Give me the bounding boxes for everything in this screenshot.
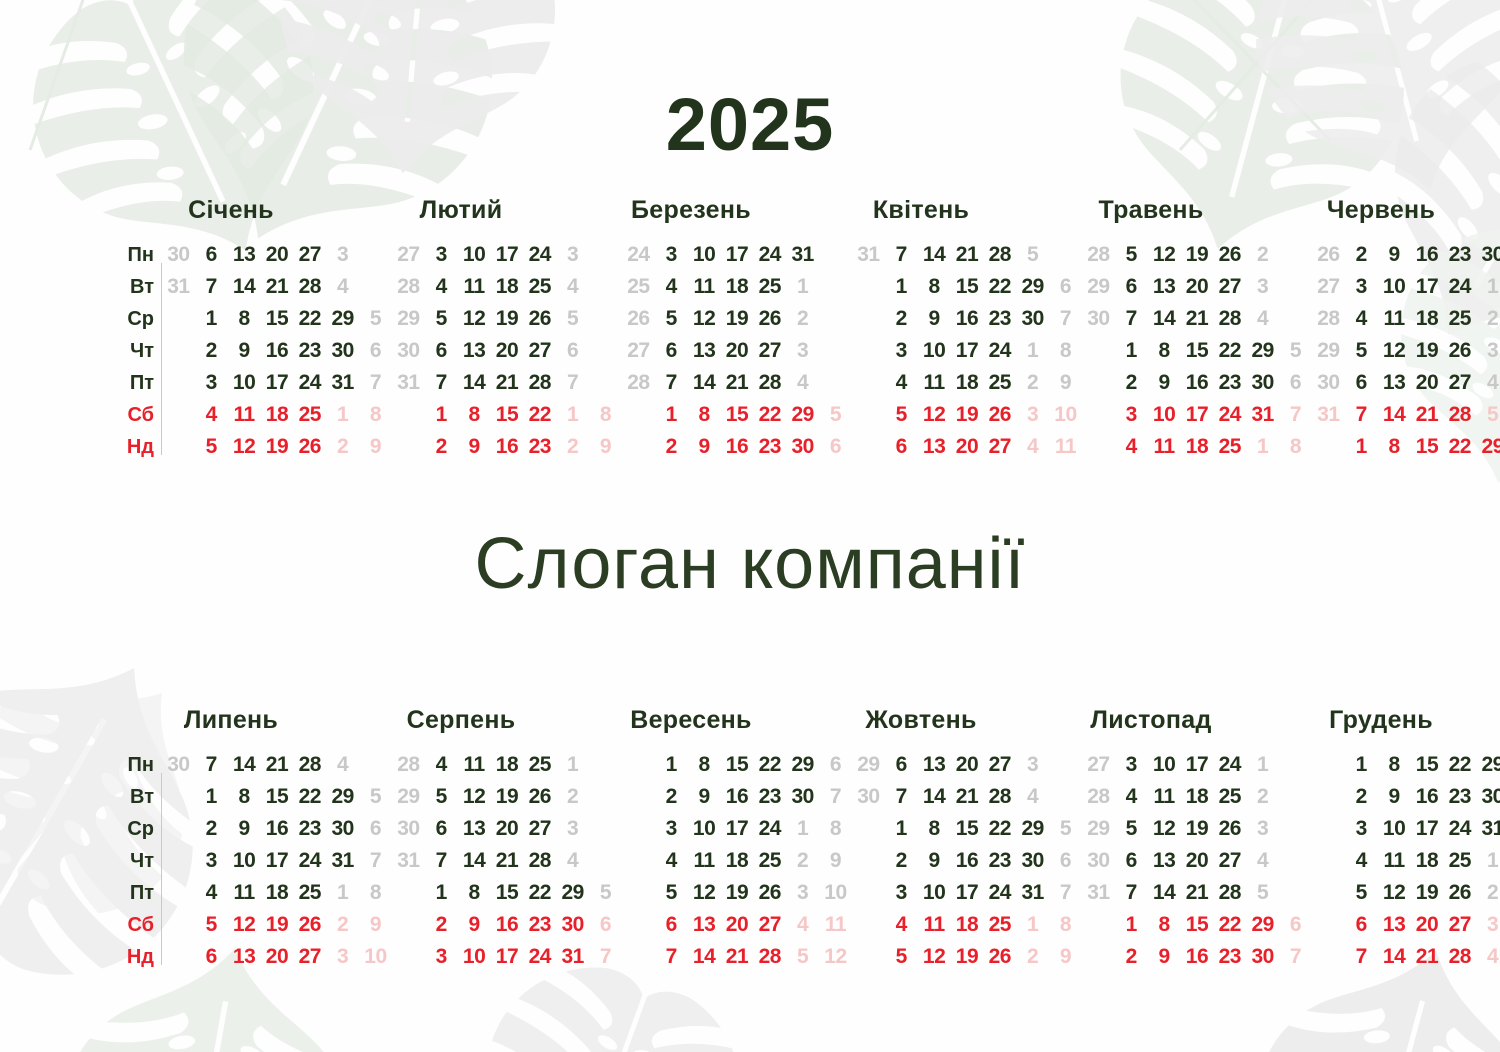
day-cell[interactable]: 30 (1476, 239, 1500, 271)
day-cell[interactable]: 1 (425, 399, 458, 431)
day-cell[interactable]: 14 (1148, 877, 1181, 909)
day-cell[interactable]: 1 (1246, 431, 1279, 463)
day-cell[interactable]: 29 (392, 781, 425, 813)
day-cell[interactable]: 2 (1345, 781, 1378, 813)
day-cell[interactable]: 17 (261, 845, 294, 877)
day-cell[interactable]: 14 (1378, 399, 1411, 431)
day-cell[interactable]: 21 (1181, 877, 1214, 909)
day-cell[interactable]: 23 (753, 431, 786, 463)
day-cell[interactable]: 13 (1148, 845, 1181, 877)
day-cell[interactable]: 10 (1148, 399, 1181, 431)
day-cell[interactable]: 5 (655, 877, 688, 909)
day-cell[interactable]: 3 (1476, 335, 1500, 367)
day-cell[interactable]: 26 (1443, 877, 1476, 909)
day-cell[interactable]: 3 (655, 239, 688, 271)
day-cell[interactable]: 26 (983, 941, 1016, 973)
day-cell[interactable]: 26 (753, 877, 786, 909)
day-cell[interactable]: 1 (885, 813, 918, 845)
day-cell[interactable]: 3 (326, 941, 359, 973)
day-cell[interactable]: 24 (622, 239, 655, 271)
day-cell[interactable]: 12 (1148, 813, 1181, 845)
day-cell[interactable]: 25 (1213, 431, 1246, 463)
day-cell[interactable]: 27 (983, 749, 1016, 781)
day-cell[interactable]: 25 (983, 909, 1016, 941)
day-cell[interactable]: 3 (1476, 909, 1500, 941)
day-cell[interactable]: 5 (195, 431, 228, 463)
day-cell[interactable]: 29 (1476, 749, 1500, 781)
day-cell[interactable]: 1 (326, 399, 359, 431)
day-cell[interactable]: 22 (753, 749, 786, 781)
day-cell[interactable]: 1 (1115, 909, 1148, 941)
day-cell[interactable]: 11 (1049, 431, 1082, 463)
day-cell[interactable]: 25 (753, 271, 786, 303)
day-cell[interactable]: 4 (786, 367, 819, 399)
day-cell[interactable]: 6 (425, 335, 458, 367)
day-cell[interactable]: 7 (1115, 877, 1148, 909)
day-cell[interactable]: 3 (786, 877, 819, 909)
day-cell[interactable]: 7 (195, 271, 228, 303)
day-cell[interactable]: 26 (1312, 239, 1345, 271)
day-cell[interactable]: 4 (1345, 845, 1378, 877)
day-cell[interactable]: 20 (721, 909, 754, 941)
day-cell[interactable]: 19 (721, 877, 754, 909)
day-cell[interactable]: 7 (1279, 941, 1312, 973)
day-cell[interactable]: 10 (688, 813, 721, 845)
day-cell[interactable]: 5 (1345, 335, 1378, 367)
day-cell[interactable]: 8 (228, 303, 261, 335)
day-cell[interactable]: 26 (293, 431, 326, 463)
day-cell[interactable]: 30 (1246, 941, 1279, 973)
day-cell[interactable]: 6 (195, 239, 228, 271)
day-cell[interactable]: 3 (885, 335, 918, 367)
day-cell[interactable]: 9 (589, 431, 622, 463)
day-cell[interactable]: 17 (951, 335, 984, 367)
day-cell[interactable]: 6 (556, 335, 589, 367)
day-cell[interactable]: 26 (293, 909, 326, 941)
day-cell[interactable]: 6 (359, 813, 392, 845)
day-cell[interactable]: 2 (786, 845, 819, 877)
day-cell[interactable]: 9 (228, 813, 261, 845)
day-cell[interactable]: 16 (951, 303, 984, 335)
day-cell[interactable]: 14 (918, 239, 951, 271)
day-cell[interactable]: 18 (1181, 781, 1214, 813)
day-cell[interactable]: 27 (1082, 749, 1115, 781)
day-cell[interactable]: 29 (1082, 271, 1115, 303)
day-cell[interactable]: 25 (523, 271, 556, 303)
day-cell[interactable]: 4 (556, 271, 589, 303)
day-cell[interactable]: 2 (786, 303, 819, 335)
day-cell[interactable]: 11 (918, 909, 951, 941)
day-cell[interactable]: 24 (1443, 813, 1476, 845)
day-cell[interactable]: 1 (195, 303, 228, 335)
day-cell[interactable]: 30 (392, 335, 425, 367)
day-cell[interactable]: 13 (1378, 909, 1411, 941)
day-cell[interactable]: 4 (556, 845, 589, 877)
day-cell[interactable]: 2 (195, 813, 228, 845)
day-cell[interactable]: 21 (721, 941, 754, 973)
day-cell[interactable]: 18 (261, 399, 294, 431)
day-cell[interactable]: 23 (1443, 239, 1476, 271)
day-cell[interactable]: 3 (195, 367, 228, 399)
day-cell[interactable]: 5 (1476, 399, 1500, 431)
day-cell[interactable]: 9 (458, 909, 491, 941)
day-cell[interactable]: 28 (1082, 239, 1115, 271)
day-cell[interactable]: 13 (228, 239, 261, 271)
day-cell[interactable]: 20 (1181, 271, 1214, 303)
day-cell[interactable]: 1 (655, 749, 688, 781)
day-cell[interactable]: 16 (1411, 239, 1444, 271)
day-cell[interactable]: 7 (1345, 399, 1378, 431)
day-cell[interactable]: 5 (1246, 877, 1279, 909)
day-cell[interactable]: 1 (1246, 749, 1279, 781)
day-cell[interactable]: 7 (589, 941, 622, 973)
day-cell[interactable]: 27 (983, 431, 1016, 463)
day-cell[interactable]: 22 (753, 399, 786, 431)
day-cell[interactable]: 4 (1345, 303, 1378, 335)
day-cell[interactable]: 3 (556, 813, 589, 845)
day-cell[interactable]: 7 (655, 941, 688, 973)
day-cell[interactable]: 26 (523, 303, 556, 335)
day-cell[interactable]: 3 (326, 239, 359, 271)
day-cell[interactable]: 17 (1181, 749, 1214, 781)
day-cell[interactable]: 10 (918, 335, 951, 367)
day-cell[interactable]: 6 (819, 431, 852, 463)
day-cell[interactable]: 17 (491, 941, 524, 973)
day-cell[interactable]: 19 (1181, 239, 1214, 271)
day-cell[interactable]: 12 (1378, 335, 1411, 367)
day-cell[interactable]: 4 (1476, 367, 1500, 399)
day-cell[interactable]: 12 (1148, 239, 1181, 271)
day-cell[interactable]: 31 (1246, 399, 1279, 431)
day-cell[interactable]: 14 (918, 781, 951, 813)
day-cell[interactable]: 29 (1476, 431, 1500, 463)
day-cell[interactable]: 22 (1443, 749, 1476, 781)
day-cell[interactable]: 6 (1049, 271, 1082, 303)
day-cell[interactable]: 22 (983, 271, 1016, 303)
day-cell[interactable]: 8 (918, 271, 951, 303)
day-cell[interactable]: 23 (753, 781, 786, 813)
day-cell[interactable]: 16 (1181, 367, 1214, 399)
day-cell[interactable]: 29 (786, 749, 819, 781)
day-cell[interactable]: 4 (326, 271, 359, 303)
day-cell[interactable]: 26 (1443, 335, 1476, 367)
day-cell[interactable]: 27 (753, 335, 786, 367)
day-cell[interactable]: 11 (1378, 845, 1411, 877)
day-cell[interactable]: 8 (688, 399, 721, 431)
day-cell[interactable]: 2 (326, 909, 359, 941)
day-cell[interactable]: 3 (1345, 813, 1378, 845)
day-cell[interactable]: 21 (1411, 399, 1444, 431)
day-cell[interactable]: 6 (655, 909, 688, 941)
day-cell[interactable]: 19 (261, 431, 294, 463)
day-cell[interactable]: 4 (1115, 431, 1148, 463)
day-cell[interactable]: 25 (293, 399, 326, 431)
day-cell[interactable]: 30 (556, 909, 589, 941)
day-cell[interactable]: 25 (523, 749, 556, 781)
day-cell[interactable]: 7 (1345, 941, 1378, 973)
day-cell[interactable]: 3 (1345, 271, 1378, 303)
day-cell[interactable]: 26 (753, 303, 786, 335)
day-cell[interactable]: 2 (1115, 941, 1148, 973)
day-cell[interactable]: 13 (228, 941, 261, 973)
day-cell[interactable]: 2 (1345, 239, 1378, 271)
day-cell[interactable]: 8 (589, 399, 622, 431)
day-cell[interactable]: 30 (1082, 845, 1115, 877)
day-cell[interactable]: 8 (458, 877, 491, 909)
day-cell[interactable]: 11 (819, 909, 852, 941)
day-cell[interactable]: 4 (1115, 781, 1148, 813)
day-cell[interactable]: 16 (721, 781, 754, 813)
day-cell[interactable]: 30 (326, 335, 359, 367)
day-cell[interactable]: 26 (622, 303, 655, 335)
day-cell[interactable]: 22 (1213, 909, 1246, 941)
day-cell[interactable]: 21 (1411, 941, 1444, 973)
day-cell[interactable]: 24 (293, 367, 326, 399)
day-cell[interactable]: 20 (951, 431, 984, 463)
day-cell[interactable]: 23 (523, 909, 556, 941)
day-cell[interactable]: 25 (983, 367, 1016, 399)
day-cell[interactable]: 28 (293, 749, 326, 781)
day-cell[interactable]: 12 (819, 941, 852, 973)
day-cell[interactable]: 3 (1246, 813, 1279, 845)
day-cell[interactable]: 2 (1476, 877, 1500, 909)
day-cell[interactable]: 17 (1181, 399, 1214, 431)
day-cell[interactable]: 26 (1213, 239, 1246, 271)
day-cell[interactable]: 15 (721, 749, 754, 781)
day-cell[interactable]: 30 (1246, 367, 1279, 399)
day-cell[interactable]: 6 (885, 431, 918, 463)
day-cell[interactable]: 2 (425, 909, 458, 941)
day-cell[interactable]: 5 (1115, 239, 1148, 271)
day-cell[interactable]: 13 (458, 813, 491, 845)
day-cell[interactable]: 6 (1279, 367, 1312, 399)
day-cell[interactable]: 17 (951, 877, 984, 909)
day-cell[interactable]: 25 (622, 271, 655, 303)
day-cell[interactable]: 31 (786, 239, 819, 271)
day-cell[interactable]: 5 (786, 941, 819, 973)
day-cell[interactable]: 4 (195, 399, 228, 431)
day-cell[interactable]: 1 (655, 399, 688, 431)
day-cell[interactable]: 13 (918, 749, 951, 781)
day-cell[interactable]: 24 (983, 877, 1016, 909)
day-cell[interactable]: 16 (1411, 781, 1444, 813)
day-cell[interactable]: 10 (458, 239, 491, 271)
day-cell[interactable]: 15 (1181, 335, 1214, 367)
day-cell[interactable]: 16 (491, 431, 524, 463)
day-cell[interactable]: 3 (195, 845, 228, 877)
day-cell[interactable]: 18 (951, 367, 984, 399)
day-cell[interactable]: 9 (1049, 941, 1082, 973)
day-cell[interactable]: 17 (1411, 271, 1444, 303)
day-cell[interactable]: 12 (228, 431, 261, 463)
day-cell[interactable]: 9 (1378, 239, 1411, 271)
day-cell[interactable]: 12 (918, 399, 951, 431)
day-cell[interactable]: 28 (1443, 941, 1476, 973)
day-cell[interactable]: 17 (721, 813, 754, 845)
day-cell[interactable]: 8 (1148, 335, 1181, 367)
day-cell[interactable]: 20 (1181, 845, 1214, 877)
day-cell[interactable]: 7 (819, 781, 852, 813)
day-cell[interactable]: 2 (195, 335, 228, 367)
day-cell[interactable]: 7 (1115, 303, 1148, 335)
day-cell[interactable]: 1 (425, 877, 458, 909)
day-cell[interactable]: 6 (655, 335, 688, 367)
day-cell[interactable]: 7 (655, 367, 688, 399)
day-cell[interactable]: 7 (425, 367, 458, 399)
day-cell[interactable]: 31 (392, 367, 425, 399)
day-cell[interactable]: 8 (359, 877, 392, 909)
day-cell[interactable]: 26 (983, 399, 1016, 431)
day-cell[interactable]: 12 (228, 909, 261, 941)
day-cell[interactable]: 8 (1279, 431, 1312, 463)
day-cell[interactable]: 23 (983, 845, 1016, 877)
day-cell[interactable]: 6 (1115, 271, 1148, 303)
day-cell[interactable]: 29 (1246, 909, 1279, 941)
day-cell[interactable]: 6 (359, 335, 392, 367)
day-cell[interactable]: 5 (195, 909, 228, 941)
day-cell[interactable]: 4 (885, 909, 918, 941)
day-cell[interactable]: 2 (655, 431, 688, 463)
day-cell[interactable]: 20 (721, 335, 754, 367)
day-cell[interactable]: 19 (721, 303, 754, 335)
day-cell[interactable]: 9 (1049, 367, 1082, 399)
day-cell[interactable]: 8 (359, 399, 392, 431)
day-cell[interactable]: 24 (753, 813, 786, 845)
day-cell[interactable]: 11 (458, 749, 491, 781)
day-cell[interactable]: 29 (556, 877, 589, 909)
day-cell[interactable]: 13 (688, 335, 721, 367)
day-cell[interactable]: 2 (1476, 303, 1500, 335)
day-cell[interactable]: 28 (753, 941, 786, 973)
day-cell[interactable]: 30 (162, 239, 195, 271)
day-cell[interactable]: 29 (326, 781, 359, 813)
day-cell[interactable]: 31 (326, 845, 359, 877)
day-cell[interactable]: 1 (786, 271, 819, 303)
day-cell[interactable]: 24 (753, 239, 786, 271)
day-cell[interactable]: 12 (688, 303, 721, 335)
day-cell[interactable]: 16 (721, 431, 754, 463)
day-cell[interactable]: 14 (688, 941, 721, 973)
day-cell[interactable]: 4 (1016, 781, 1049, 813)
day-cell[interactable]: 18 (721, 845, 754, 877)
day-cell[interactable]: 29 (1016, 271, 1049, 303)
day-cell[interactable]: 6 (1115, 845, 1148, 877)
day-cell[interactable]: 2 (1016, 941, 1049, 973)
day-cell[interactable]: 27 (1213, 271, 1246, 303)
day-cell[interactable]: 25 (1443, 303, 1476, 335)
day-cell[interactable]: 7 (425, 845, 458, 877)
day-cell[interactable]: 30 (1312, 367, 1345, 399)
day-cell[interactable]: 12 (918, 941, 951, 973)
day-cell[interactable]: 24 (1213, 399, 1246, 431)
day-cell[interactable]: 22 (293, 781, 326, 813)
day-cell[interactable]: 9 (228, 335, 261, 367)
day-cell[interactable]: 13 (688, 909, 721, 941)
day-cell[interactable]: 10 (228, 367, 261, 399)
day-cell[interactable]: 18 (1411, 845, 1444, 877)
day-cell[interactable]: 27 (293, 239, 326, 271)
day-cell[interactable]: 20 (1411, 367, 1444, 399)
day-cell[interactable]: 12 (688, 877, 721, 909)
day-cell[interactable]: 9 (688, 431, 721, 463)
day-cell[interactable]: 23 (1213, 367, 1246, 399)
day-cell[interactable]: 2 (326, 431, 359, 463)
day-cell[interactable]: 25 (753, 845, 786, 877)
day-cell[interactable]: 27 (1443, 909, 1476, 941)
day-cell[interactable]: 13 (458, 335, 491, 367)
day-cell[interactable]: 18 (261, 877, 294, 909)
day-cell[interactable]: 28 (983, 239, 1016, 271)
day-cell[interactable]: 17 (721, 239, 754, 271)
day-cell[interactable]: 5 (1016, 239, 1049, 271)
day-cell[interactable]: 15 (261, 303, 294, 335)
day-cell[interactable]: 27 (1312, 271, 1345, 303)
day-cell[interactable]: 18 (1411, 303, 1444, 335)
day-cell[interactable]: 5 (425, 303, 458, 335)
day-cell[interactable]: 9 (819, 845, 852, 877)
day-cell[interactable]: 7 (885, 239, 918, 271)
day-cell[interactable]: 10 (918, 877, 951, 909)
day-cell[interactable]: 19 (951, 941, 984, 973)
day-cell[interactable]: 22 (523, 877, 556, 909)
day-cell[interactable]: 22 (293, 303, 326, 335)
day-cell[interactable]: 25 (1213, 781, 1246, 813)
day-cell[interactable]: 1 (1476, 845, 1500, 877)
day-cell[interactable]: 10 (1378, 813, 1411, 845)
day-cell[interactable]: 19 (1411, 335, 1444, 367)
day-cell[interactable]: 5 (1115, 813, 1148, 845)
day-cell[interactable]: 5 (359, 303, 392, 335)
day-cell[interactable]: 21 (1181, 303, 1214, 335)
day-cell[interactable]: 9 (458, 431, 491, 463)
day-cell[interactable]: 8 (688, 749, 721, 781)
day-cell[interactable]: 9 (1148, 941, 1181, 973)
day-cell[interactable]: 14 (458, 367, 491, 399)
day-cell[interactable]: 21 (491, 367, 524, 399)
day-cell[interactable]: 2 (556, 781, 589, 813)
day-cell[interactable]: 17 (491, 239, 524, 271)
day-cell[interactable]: 15 (491, 399, 524, 431)
day-cell[interactable]: 14 (1148, 303, 1181, 335)
day-cell[interactable]: 16 (1181, 941, 1214, 973)
day-cell[interactable]: 10 (359, 941, 392, 973)
day-cell[interactable]: 3 (885, 877, 918, 909)
day-cell[interactable]: 27 (293, 941, 326, 973)
day-cell[interactable]: 15 (1411, 431, 1444, 463)
day-cell[interactable]: 6 (1279, 909, 1312, 941)
day-cell[interactable]: 8 (1378, 431, 1411, 463)
day-cell[interactable]: 30 (1016, 845, 1049, 877)
day-cell[interactable]: 31 (852, 239, 885, 271)
day-cell[interactable]: 1 (1115, 335, 1148, 367)
day-cell[interactable]: 4 (1476, 941, 1500, 973)
day-cell[interactable]: 29 (392, 303, 425, 335)
day-cell[interactable]: 9 (688, 781, 721, 813)
day-cell[interactable]: 13 (918, 431, 951, 463)
day-cell[interactable]: 1 (1016, 335, 1049, 367)
day-cell[interactable]: 16 (261, 813, 294, 845)
day-cell[interactable]: 28 (523, 367, 556, 399)
day-cell[interactable]: 16 (261, 335, 294, 367)
day-cell[interactable]: 31 (556, 941, 589, 973)
day-cell[interactable]: 31 (1082, 877, 1115, 909)
day-cell[interactable]: 23 (293, 813, 326, 845)
day-cell[interactable]: 4 (655, 271, 688, 303)
day-cell[interactable]: 11 (458, 271, 491, 303)
day-cell[interactable]: 9 (1148, 367, 1181, 399)
day-cell[interactable]: 6 (425, 813, 458, 845)
day-cell[interactable]: 27 (622, 335, 655, 367)
